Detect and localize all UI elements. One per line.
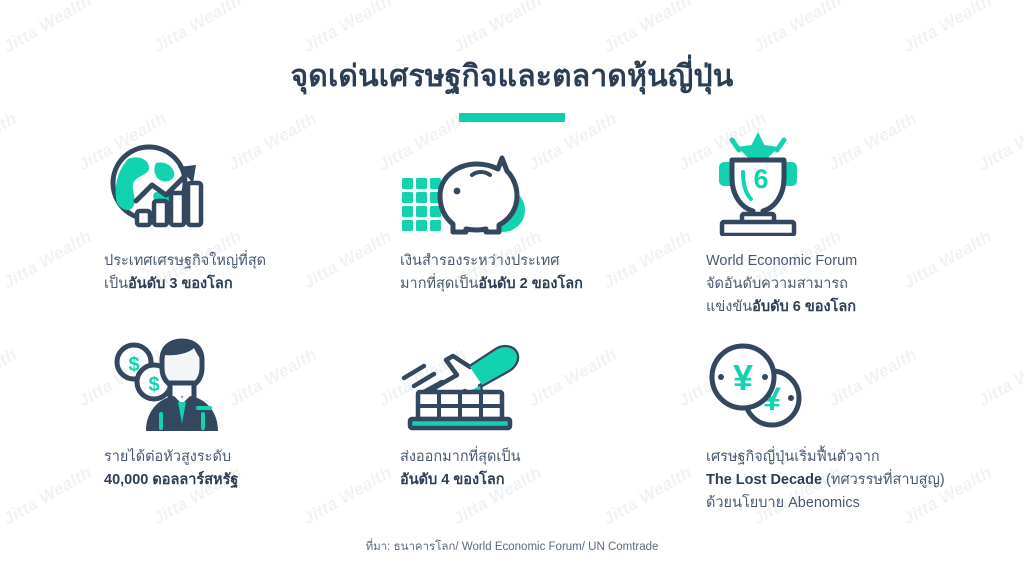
trophy-rank-number: 6 bbox=[753, 164, 768, 194]
cards-grid: ประเทศเศรษฐกิจใหญ่ที่สุดเป็นอันดับ 3 ของ… bbox=[104, 136, 934, 528]
yen-coins-icon: ¥ ¥ bbox=[706, 332, 934, 432]
card-text-emphasis: อันดับ 4 ของโลก bbox=[400, 472, 505, 488]
header: จุดเด่นเศรษฐกิจและตลาดหุ้นญี่ปุ่น bbox=[0, 0, 1024, 122]
card-text-line: ด้วยนโยบาย Abenomics bbox=[706, 492, 934, 515]
card-text-line: ประเทศเศรษฐกิจใหญ่ที่สุด bbox=[104, 250, 400, 273]
card-text-run: (ทศวรรษที่สาบสูญ) bbox=[822, 472, 945, 488]
businessman-income-icon: $ $ bbox=[104, 332, 400, 432]
card-text-emphasis: 40,000 ดอลลาร์สหรัฐ bbox=[104, 472, 238, 488]
card-competitiveness-rank: 6 World Economic Forumจัดอันดับความสามาร… bbox=[706, 136, 934, 332]
card-text-emphasis: อันดับ 3 ของโลก bbox=[128, 276, 233, 292]
card-text-run: ส่งออกมากที่สุดเป็น bbox=[400, 449, 521, 465]
card-income-per-capita: $ $ รายได้ต่อหัวสูงระดับ40,000 ดอลลาร์สห… bbox=[104, 332, 400, 528]
card-text: ส่งออกมากที่สุดเป็นอันดับ 4 ของโลก bbox=[400, 446, 706, 492]
airplane-cargo-export-icon bbox=[400, 332, 706, 432]
card-text-run: เงินสำรองระหว่างประเทศ bbox=[400, 253, 560, 269]
card-text-line: World Economic Forum bbox=[706, 250, 934, 273]
card-text-emphasis: อับดับ 6 ของโลก bbox=[752, 299, 856, 315]
card-text: World Economic Forumจัดอันดับความสามารถแ… bbox=[706, 250, 934, 319]
card-text-run: แข่งขัน bbox=[706, 299, 752, 315]
card-text-run: เป็น bbox=[104, 276, 128, 292]
card-text-line: The Lost Decade (ทศวรรษที่สาบสูญ) bbox=[706, 469, 934, 492]
card-text-emphasis: The Lost Decade bbox=[706, 472, 822, 488]
card-text-line: อันดับ 4 ของโลก bbox=[400, 469, 706, 492]
card-text-line: เงินสำรองระหว่างประเทศ bbox=[400, 250, 706, 273]
globe-growth-chart-icon bbox=[104, 136, 400, 236]
card-text: เงินสำรองระหว่างประเทศมากที่สุดเป็นอันดั… bbox=[400, 250, 706, 296]
card-text-line: แข่งขันอับดับ 6 ของโลก bbox=[706, 296, 934, 319]
card-abenomics-recovery: ¥ ¥ เศรษฐกิจญี่ปุ่นเริ่มฟื้นตัวจากThe Lo… bbox=[706, 332, 934, 528]
card-text-run: มากที่สุดเป็น bbox=[400, 276, 478, 292]
card-text-line: เป็นอันดับ 3 ของโลก bbox=[104, 273, 400, 296]
card-text-line: จัดอันดับความสามารถ bbox=[706, 273, 934, 296]
yen-coin-symbol: ¥ bbox=[733, 357, 753, 398]
card-text-run: World Economic Forum bbox=[706, 253, 857, 269]
card-text-run: ประเทศเศรษฐกิจใหญ่ที่สุด bbox=[104, 253, 266, 269]
card-text-line: ส่งออกมากที่สุดเป็น bbox=[400, 446, 706, 469]
card-text: ประเทศเศรษฐกิจใหญ่ที่สุดเป็นอันดับ 3 ของ… bbox=[104, 250, 400, 296]
card-foreign-reserves: $ เงินสำรองระหว่างประเทศมากที่สุดเป็นอัน… bbox=[400, 136, 706, 332]
card-text-run: เศรษฐกิจญี่ปุ่นเริ่มฟื้นตัวจาก bbox=[706, 449, 880, 465]
infographic-slide: จุดเด่นเศรษฐกิจและตลาดหุ้นญี่ปุ่น bbox=[0, 0, 1024, 576]
card-text-emphasis: อันดับ 2 ของโลก bbox=[478, 276, 583, 292]
trophy-icon: 6 bbox=[706, 136, 934, 236]
card-economy-size: ประเทศเศรษฐกิจใหญ่ที่สุดเป็นอันดับ 3 ของ… bbox=[104, 136, 400, 332]
card-exports-rank: ส่งออกมากที่สุดเป็นอันดับ 4 ของโลก bbox=[400, 332, 706, 528]
piggy-bank-icon: $ bbox=[400, 136, 706, 236]
svg-text:$: $ bbox=[148, 374, 159, 396]
card-text-run: จัดอันดับความสามารถ bbox=[706, 276, 848, 292]
page-title: จุดเด่นเศรษฐกิจและตลาดหุ้นญี่ปุ่น bbox=[0, 58, 1024, 96]
card-text-run: ด้วยนโยบาย Abenomics bbox=[706, 495, 860, 511]
card-text-line: เศรษฐกิจญี่ปุ่นเริ่มฟื้นตัวจาก bbox=[706, 446, 934, 469]
title-underline-bar bbox=[459, 113, 565, 122]
card-text-line: รายได้ต่อหัวสูงระดับ bbox=[104, 446, 400, 469]
card-text-run: รายได้ต่อหัวสูงระดับ bbox=[104, 449, 231, 465]
card-text-line: มากที่สุดเป็นอันดับ 2 ของโลก bbox=[400, 273, 706, 296]
card-text-line: 40,000 ดอลลาร์สหรัฐ bbox=[104, 469, 400, 492]
card-text: เศรษฐกิจญี่ปุ่นเริ่มฟื้นตัวจากThe Lost D… bbox=[706, 446, 934, 515]
source-note: ที่มา: ธนาคารโลก/ World Economic Forum/ … bbox=[0, 538, 1024, 556]
card-text: รายได้ต่อหัวสูงระดับ40,000 ดอลลาร์สหรัฐ bbox=[104, 446, 400, 492]
